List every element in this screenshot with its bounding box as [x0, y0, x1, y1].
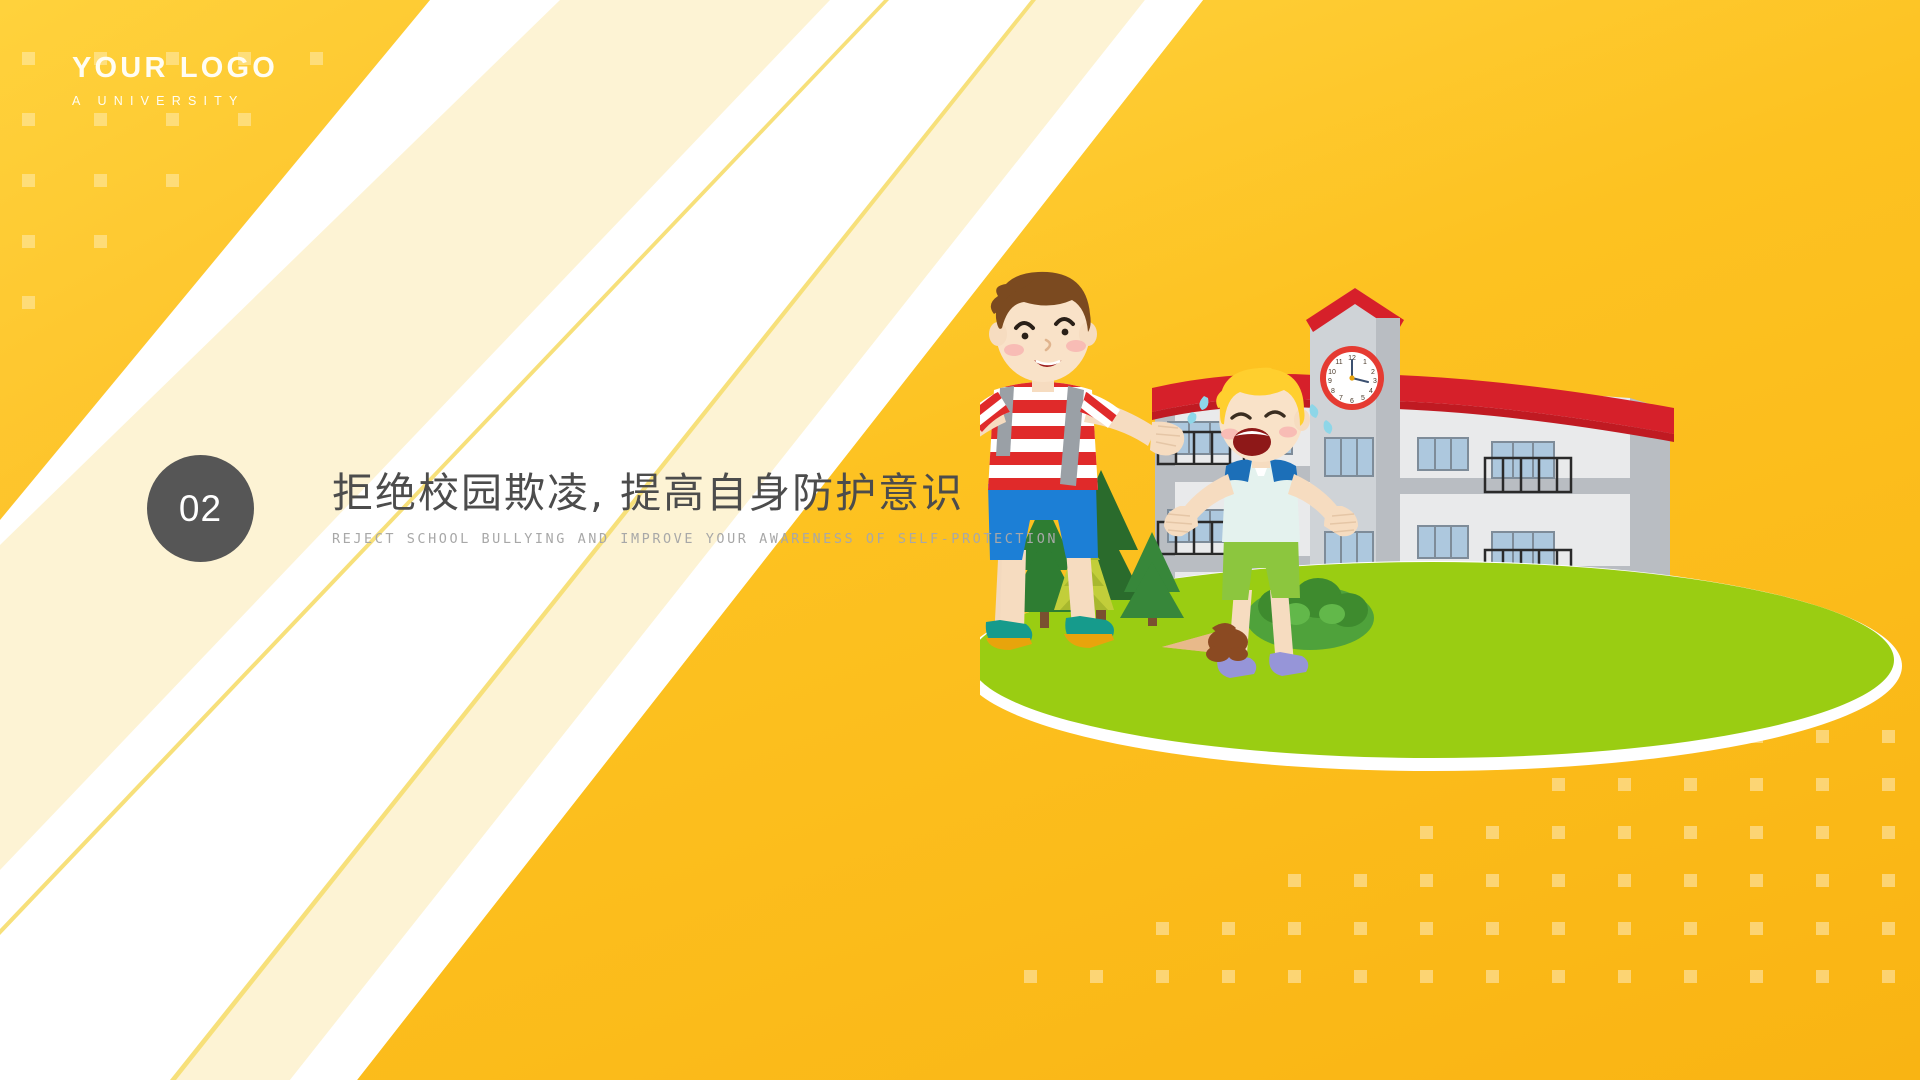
decorative-dot: [1552, 874, 1565, 887]
decorative-dot: [1882, 970, 1895, 983]
svg-text:6: 6: [1350, 398, 1354, 405]
decorative-dot: [1684, 874, 1697, 887]
page-title: 拒绝校园欺凌, 提高自身防护意识: [332, 470, 1058, 517]
decorative-dot: [22, 174, 35, 187]
decorative-dot: [1486, 922, 1499, 935]
school-bullying-illustration: 12 1 2 3 4 5 6 7 8 9 10 11: [980, 270, 1920, 830]
decorative-dot: [1684, 970, 1697, 983]
decorative-dot: [1156, 922, 1169, 935]
decorative-dot: [1420, 922, 1433, 935]
decorative-dot: [1618, 874, 1631, 887]
dot-grid-topleft: [0, 0, 300, 320]
decorative-dot: [1354, 970, 1367, 983]
decorative-dot: [1024, 970, 1037, 983]
page-subtitle: REJECT SCHOOL BULLYING AND IMPROVE YOUR …: [332, 531, 1058, 547]
decorative-dot: [1552, 922, 1565, 935]
decorative-dot: [1288, 874, 1301, 887]
decorative-dot: [1750, 922, 1763, 935]
svg-text:8: 8: [1331, 388, 1335, 395]
logo-title: YOUR LOGO: [72, 54, 278, 83]
section-number-label: 02: [179, 488, 222, 530]
decorative-dot: [238, 113, 251, 126]
svg-text:11: 11: [1335, 359, 1342, 366]
decorative-dot: [22, 113, 35, 126]
svg-text:5: 5: [1361, 395, 1365, 402]
decorative-dot: [22, 235, 35, 248]
decorative-dot: [1222, 970, 1235, 983]
slide-canvas: YOUR LOGO A UNIVERSITY 02 拒绝校园欺凌, 提高自身防护…: [0, 0, 1920, 1080]
svg-text:3: 3: [1373, 378, 1377, 385]
headline-text-group: 拒绝校园欺凌, 提高自身防护意识 REJECT SCHOOL BULLYING …: [332, 470, 1058, 546]
headline-block: 02 拒绝校园欺凌, 提高自身防护意识 REJECT SCHOOL BULLYI…: [147, 455, 1058, 562]
svg-text:9: 9: [1328, 378, 1332, 385]
decorative-dot: [94, 174, 107, 187]
decorative-dot: [1486, 874, 1499, 887]
svg-text:4: 4: [1369, 388, 1373, 395]
decorative-dot: [1354, 874, 1367, 887]
logo-tagline: A UNIVERSITY: [72, 94, 278, 108]
decorative-dot: [1354, 922, 1367, 935]
logo-block: YOUR LOGO A UNIVERSITY: [72, 54, 278, 108]
decorative-dot: [94, 235, 107, 248]
decorative-dot: [22, 296, 35, 309]
decorative-dot: [1288, 922, 1301, 935]
decorative-dot: [1618, 922, 1631, 935]
decorative-dot: [1618, 970, 1631, 983]
decorative-dot: [1816, 922, 1829, 935]
svg-text:1: 1: [1363, 359, 1367, 366]
decorative-dot: [94, 113, 107, 126]
decorative-dot: [1882, 874, 1895, 887]
decorative-dot: [1750, 970, 1763, 983]
decorative-dot: [22, 52, 35, 65]
decorative-dot: [1090, 970, 1103, 983]
decorative-dot: [1420, 874, 1433, 887]
decorative-dot: [166, 113, 179, 126]
decorative-dot: [1486, 970, 1499, 983]
decorative-dot: [1552, 970, 1565, 983]
decorative-dot: [1816, 970, 1829, 983]
decorative-dot: [1420, 970, 1433, 983]
decorative-dot: [1222, 922, 1235, 935]
decorative-dot: [1816, 874, 1829, 887]
decorative-dot: [1288, 970, 1301, 983]
svg-text:7: 7: [1339, 395, 1343, 402]
decorative-dot: [1684, 922, 1697, 935]
decorative-dot: [1156, 970, 1169, 983]
decorative-dot: [166, 174, 179, 187]
decorative-dot: [310, 52, 323, 65]
decorative-dot: [1750, 874, 1763, 887]
svg-text:2: 2: [1371, 369, 1375, 376]
decorative-dot: [1882, 922, 1895, 935]
section-number-badge: 02: [147, 455, 254, 562]
svg-text:10: 10: [1328, 369, 1336, 376]
